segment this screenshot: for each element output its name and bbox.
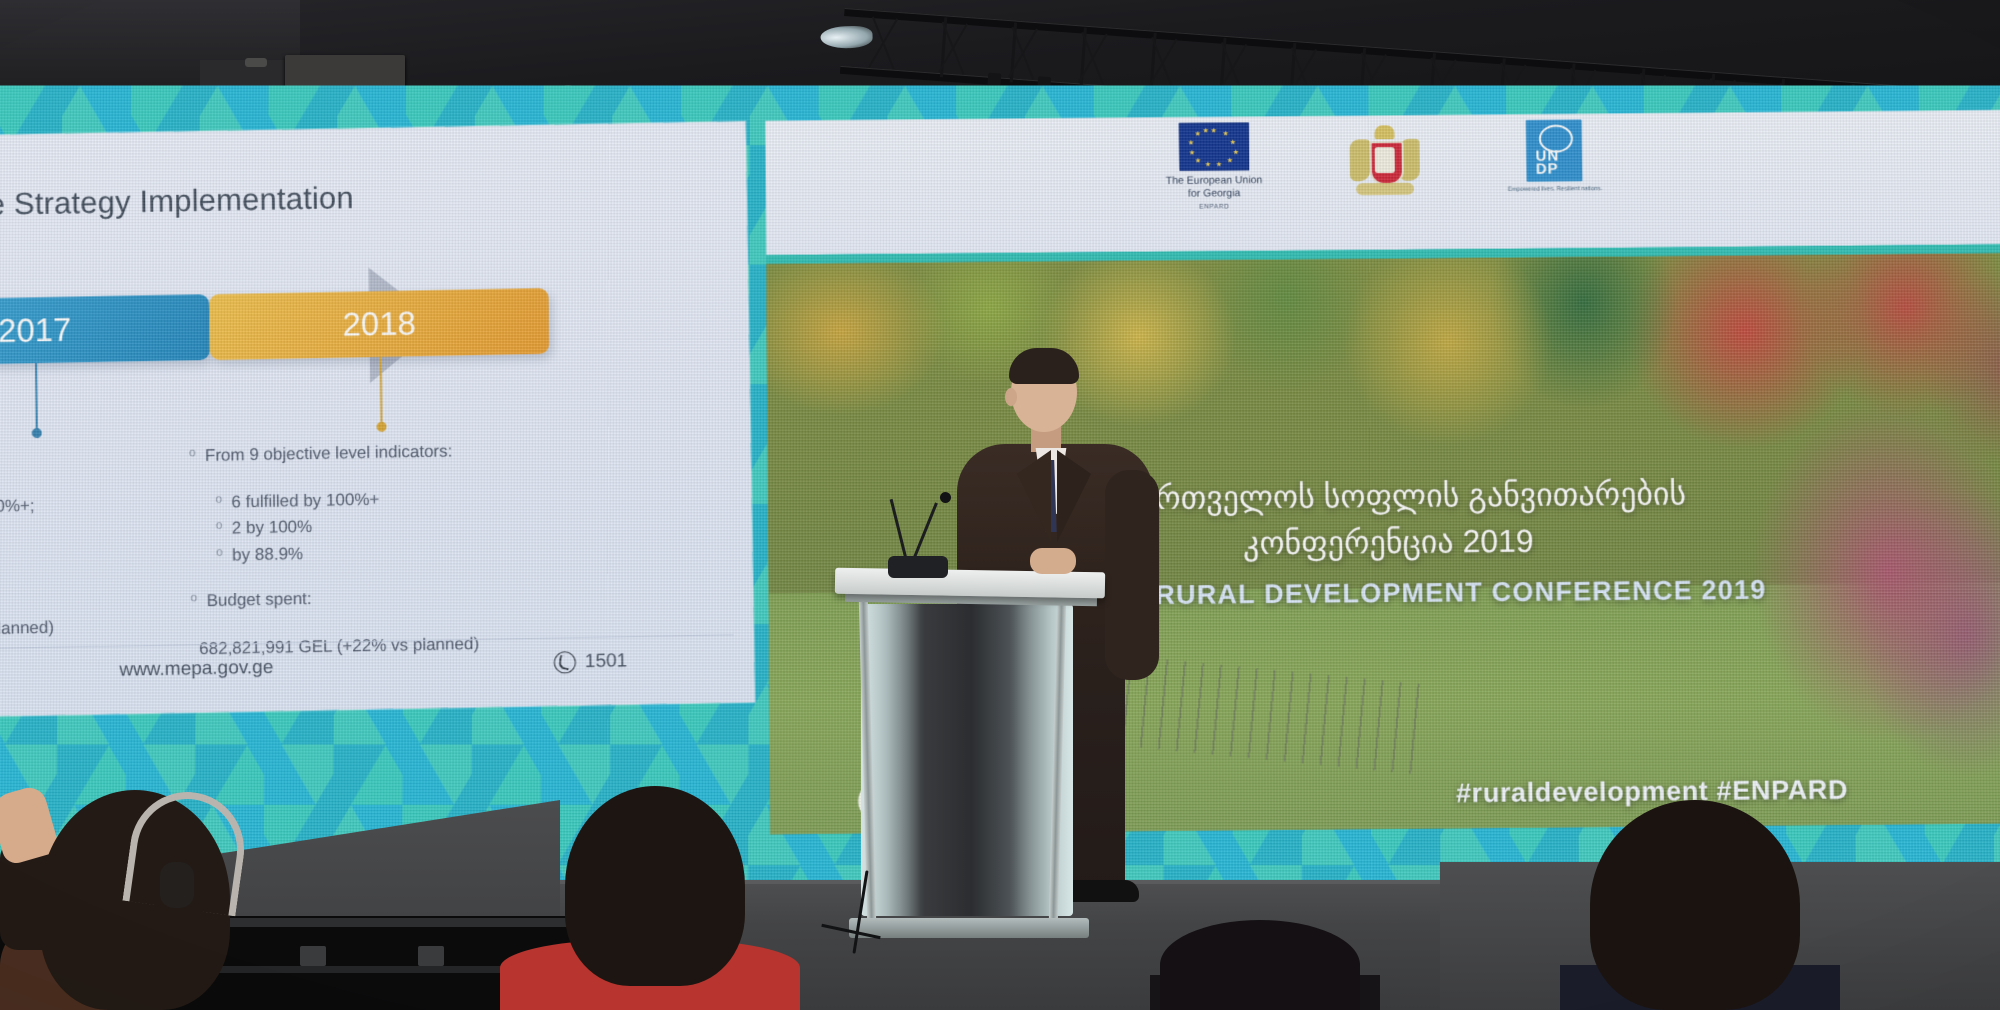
ribbon-icon	[1356, 183, 1414, 195]
list-item: lled.	[0, 544, 202, 575]
undp-logo: UN DP	[1526, 120, 1583, 182]
ceiling-vent-icon	[245, 58, 267, 67]
hotline-number: 1501	[585, 650, 628, 673]
slide-title: ults of the Strategy Implementation	[0, 173, 727, 224]
speaker-hand	[1030, 548, 1076, 574]
red-tree-photo	[1706, 403, 2000, 826]
conference-stage-photo: ults of the Strategy Implementation 2017…	[0, 0, 2000, 1010]
left-budget-value: EL (+38.3% vs planned)	[0, 613, 203, 644]
conference-title-georgian: საქართველოს სოფლის განვითარების კონფერენ…	[768, 468, 2000, 572]
list-item: d by 100% or 100%+;	[0, 491, 202, 522]
year-2018-label: 2018	[342, 304, 416, 343]
undp-tagline: Empowered lives. Resilient nations.	[1508, 186, 1603, 195]
crown-icon	[1374, 125, 1394, 139]
list-item: d partially;	[0, 517, 202, 548]
riser-clip	[418, 946, 444, 966]
eu-flag-logo: ★ ★ ★ ★ ★ ★ ★ ★ ★ ★ ★ ★	[1179, 123, 1249, 171]
audience-member	[1590, 800, 1800, 1010]
eu-caption-line2: for Georgia	[1166, 187, 1263, 201]
undp-wordmark: UN DP	[1536, 150, 1560, 176]
left-column-bullets: d by 100% or 100%+; d partially; lled.	[0, 491, 202, 575]
slide-hotline: 1501	[554, 650, 628, 673]
georgia-coat-of-arms-logo	[1347, 121, 1422, 213]
year-2017-label: 2017	[0, 311, 72, 350]
undp-logo-block: UN DP Empowered lives. Resilient nations…	[1507, 119, 1602, 194]
right-column: From 9 objective level indicators: 6 ful…	[189, 434, 662, 663]
undp-line2: DP	[1536, 163, 1560, 176]
slide-website: www.mepa.gov.ge	[119, 657, 273, 682]
year-badge-2018: 2018	[209, 288, 549, 360]
eu-caption-line1: The European Union	[1166, 174, 1263, 188]
left-column: level indicators: d by 100% or 100%+; d …	[0, 442, 203, 643]
eu-logo-block: ★ ★ ★ ★ ★ ★ ★ ★ ★ ★ ★ ★	[1165, 122, 1263, 211]
year-badge-2017: 2017	[0, 294, 210, 366]
enpard-label: ENPARD	[1199, 203, 1229, 210]
audience-member	[565, 786, 745, 986]
partner-logos: ★ ★ ★ ★ ★ ★ ★ ★ ★ ★ ★ ★	[765, 116, 2000, 251]
lion-icon	[1350, 139, 1370, 181]
microphone-icon	[940, 492, 951, 503]
spotlight-icon	[820, 25, 873, 49]
rider-icon	[1375, 147, 1395, 173]
podium-base	[849, 918, 1089, 938]
georgia-logo-block	[1347, 121, 1422, 213]
left-presentation-slide: ults of the Strategy Implementation 2017…	[0, 121, 755, 718]
headset-earcup-icon	[160, 862, 194, 908]
riser-clip	[300, 946, 326, 966]
podium	[845, 570, 1110, 960]
year-arrow-graphic: 2017 2018	[0, 261, 730, 424]
microphone-base	[888, 556, 948, 578]
right-column-bullets: 6 fulfilled by 100%+ 2 by 100% by 88.9%	[189, 482, 660, 569]
phone-icon	[554, 651, 576, 673]
connector-line-2017	[35, 363, 38, 433]
audience-member	[1160, 920, 1360, 1010]
eu-logo-caption: The European Union for Georgia	[1166, 174, 1263, 201]
